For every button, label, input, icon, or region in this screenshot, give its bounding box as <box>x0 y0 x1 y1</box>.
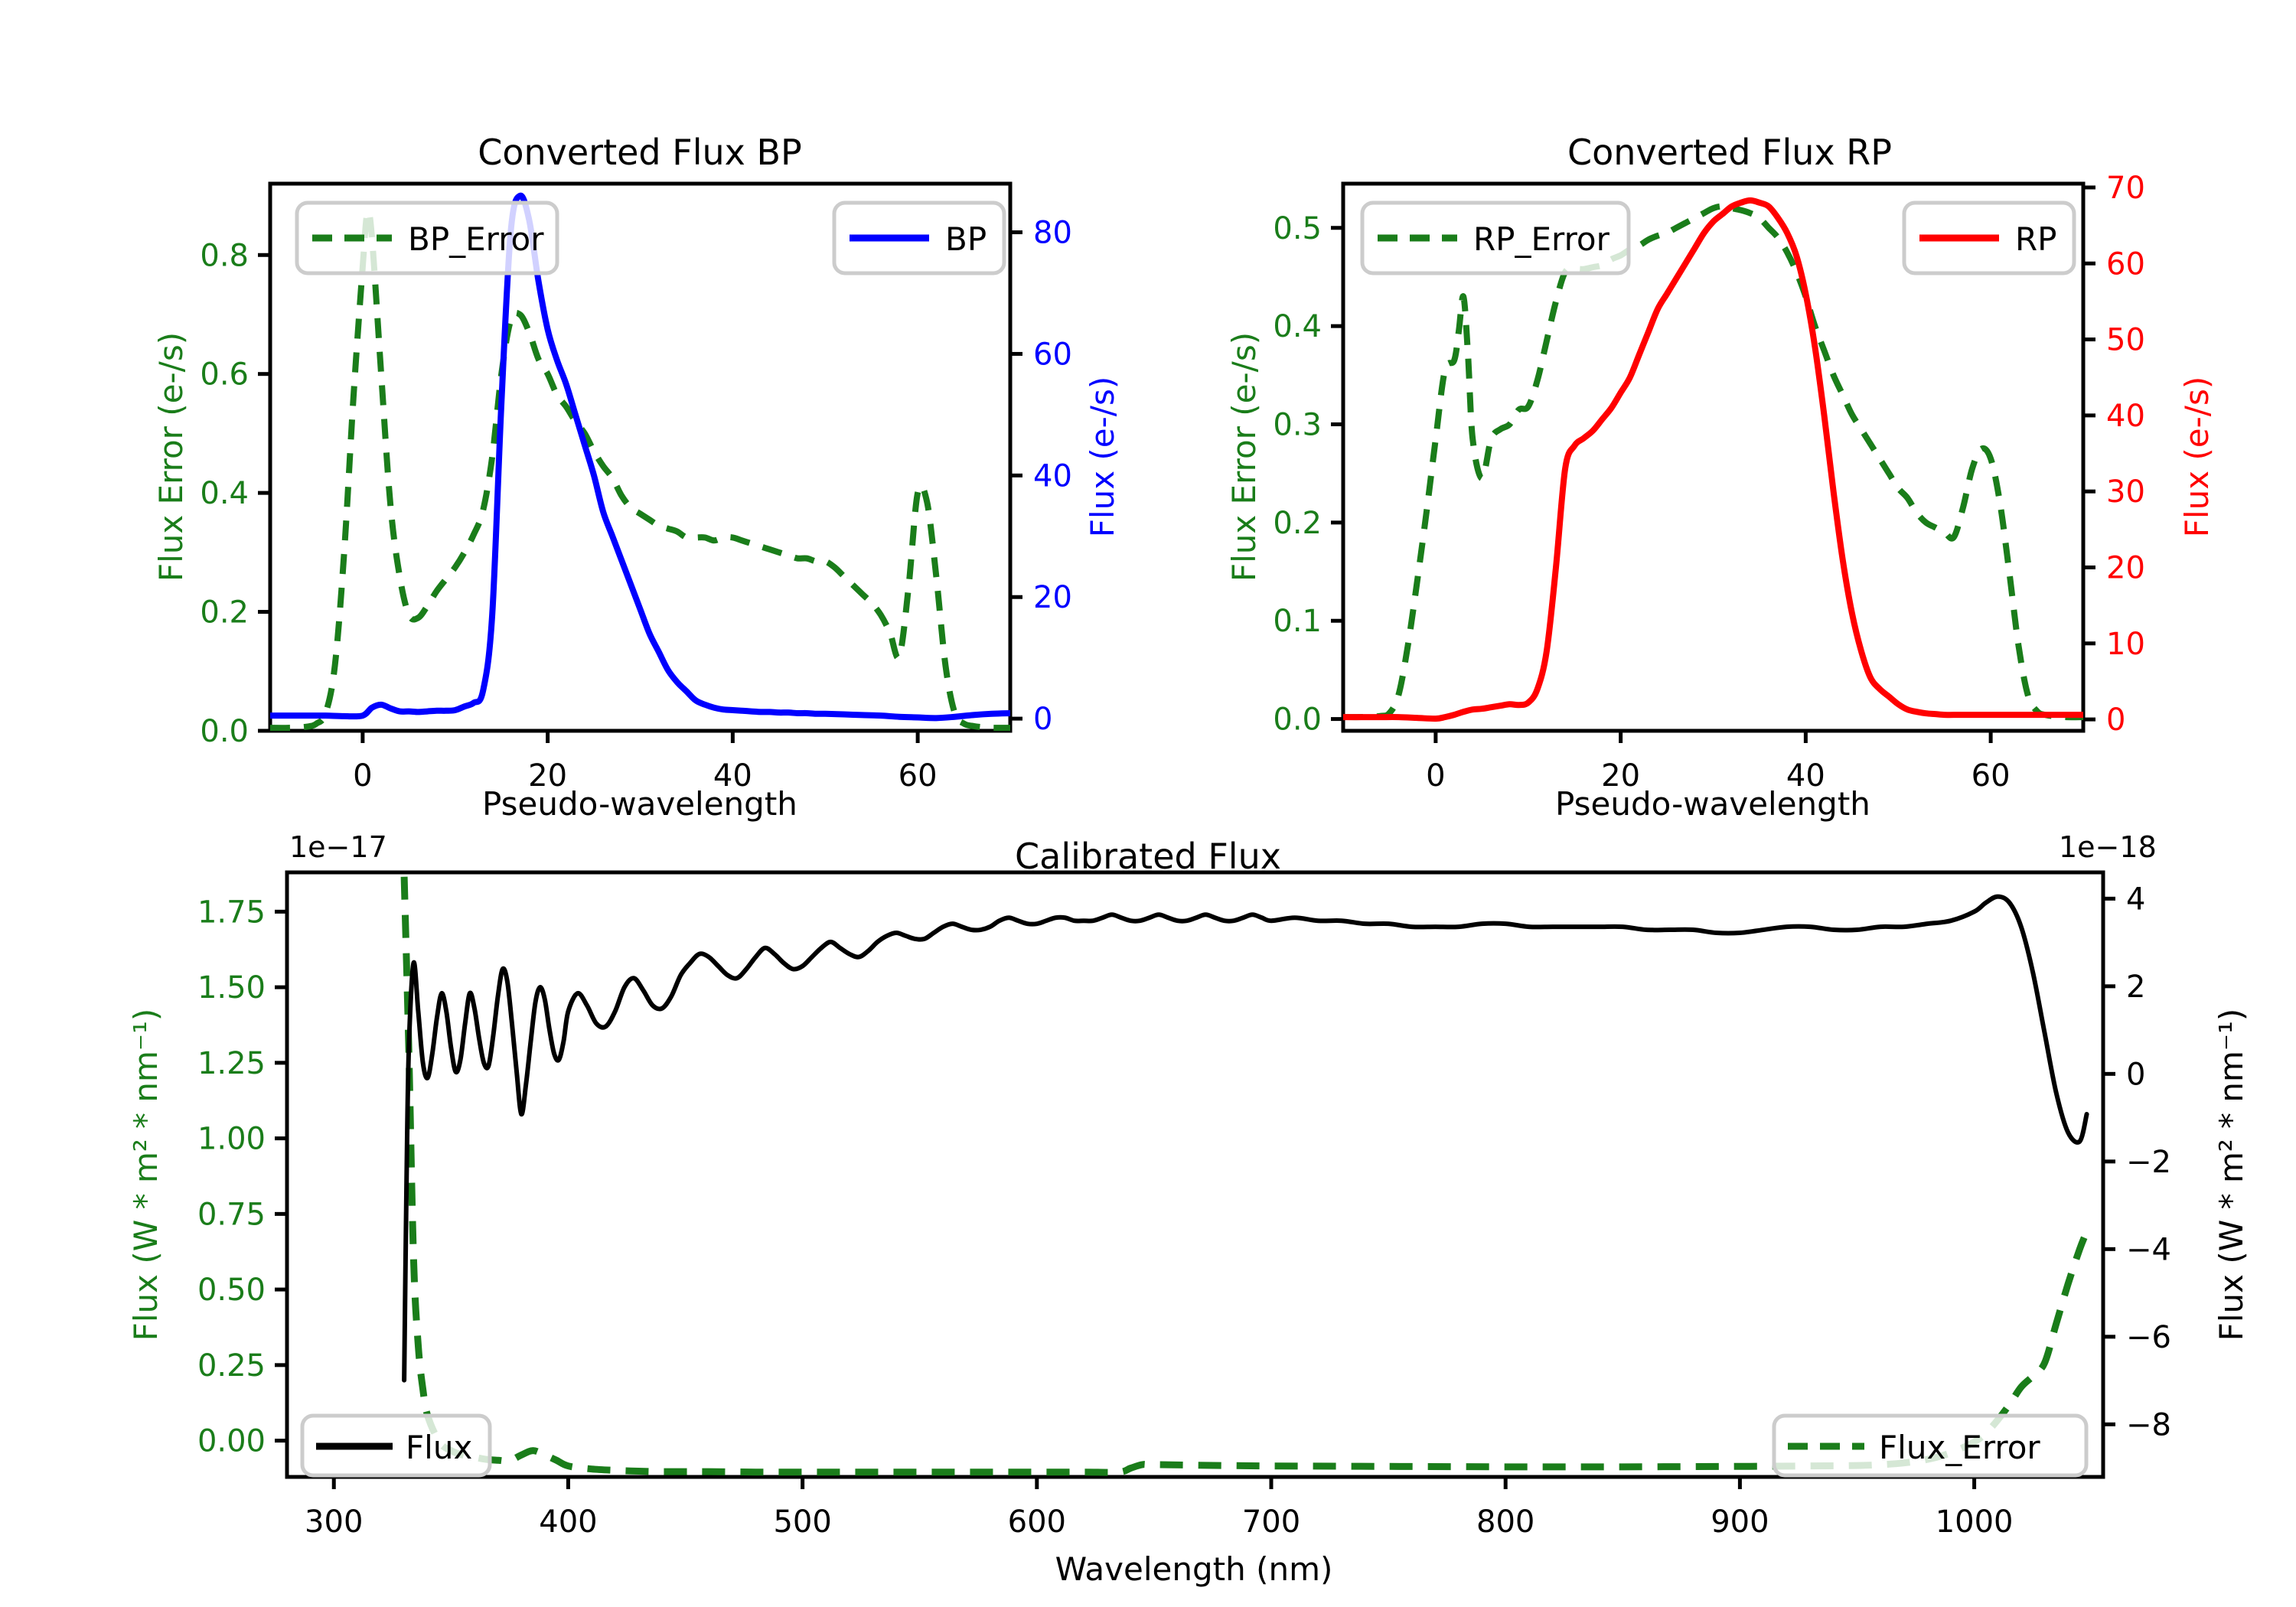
svg-text:−6: −6 <box>2126 1320 2171 1355</box>
cal-x-tick-group: 3004005006007008009001000 <box>305 1477 2013 1540</box>
svg-text:600: 600 <box>1008 1504 1066 1540</box>
rp-ylabel-left: Flux Error (e-/s) <box>1225 332 1263 582</box>
rp-right-tick-group: 010203040506070 <box>2083 171 2145 738</box>
svg-text:0: 0 <box>353 758 372 794</box>
svg-text:0.50: 0.50 <box>197 1273 266 1308</box>
cal-legend-flux-label: Flux <box>406 1429 472 1466</box>
svg-text:1.50: 1.50 <box>197 970 266 1006</box>
cal-ylabel-right: Flux (W * m² * nm⁻¹) <box>2213 1009 2250 1341</box>
cal-offset-left: 1e−17 <box>289 830 387 864</box>
svg-text:500: 500 <box>773 1504 831 1540</box>
svg-text:1000: 1000 <box>1936 1504 2014 1540</box>
cal-error-line <box>404 877 2086 1472</box>
cal-legend-flux[interactable]: Flux <box>302 1416 490 1475</box>
svg-text:800: 800 <box>1476 1504 1534 1540</box>
svg-text:−8: −8 <box>2126 1407 2171 1442</box>
bp-legend-error-label: BP_Error <box>408 220 544 258</box>
cal-legend-error[interactable]: Flux_Error <box>1774 1416 2086 1475</box>
rp-title: Converted Flux RP <box>1567 132 1892 173</box>
svg-text:30: 30 <box>2106 474 2145 510</box>
svg-text:0.00: 0.00 <box>197 1424 266 1459</box>
svg-text:−4: −4 <box>2126 1232 2171 1267</box>
cal-flux-line <box>404 897 2086 1380</box>
rp-ylabel-right: Flux (e-/s) <box>2178 376 2216 537</box>
svg-text:70: 70 <box>2106 171 2145 206</box>
rp-legend-flux[interactable]: RP <box>1904 203 2074 273</box>
panel-calibrated-flux: Calibrated Flux 1e−17 1e−18 0.000.250.50… <box>0 826 2296 1607</box>
svg-text:1.75: 1.75 <box>197 895 266 930</box>
svg-text:20: 20 <box>2106 550 2145 585</box>
rp-legend-error-label: RP_Error <box>1473 220 1610 258</box>
svg-text:0: 0 <box>2126 1057 2145 1092</box>
rp-error-line <box>1343 207 2083 718</box>
bp-left-tick-group: 0.00.20.40.60.8 <box>200 238 270 749</box>
bp-ylabel-left: Flux Error (e-/s) <box>152 332 190 582</box>
svg-text:0.1: 0.1 <box>1273 604 1322 639</box>
svg-text:60: 60 <box>1033 337 1072 372</box>
cal-right-tick-group: −8−6−4−2024 <box>2103 882 2171 1442</box>
svg-text:20: 20 <box>1033 580 1072 615</box>
svg-text:60: 60 <box>2106 246 2145 282</box>
svg-text:10: 10 <box>2106 627 2145 662</box>
svg-text:0.6: 0.6 <box>200 357 249 393</box>
svg-text:60: 60 <box>899 758 938 794</box>
rp-legend-flux-label: RP <box>2015 220 2057 258</box>
svg-text:0.3: 0.3 <box>1273 407 1322 442</box>
rp-xlabel: Pseudo-wavelength <box>1555 785 1870 823</box>
svg-text:0.2: 0.2 <box>1273 506 1322 541</box>
svg-text:0.2: 0.2 <box>200 595 249 631</box>
rp-legend-error[interactable]: RP_Error <box>1362 203 1629 273</box>
svg-text:0.0: 0.0 <box>1273 702 1322 738</box>
svg-text:0.8: 0.8 <box>200 238 249 273</box>
svg-text:80: 80 <box>1033 216 1072 251</box>
svg-text:40: 40 <box>2106 399 2145 434</box>
svg-text:4: 4 <box>2126 882 2145 917</box>
figure-canvas: Converted Flux BP 0.00.20.40.60.8 020406… <box>0 0 2296 1607</box>
cal-left-tick-group: 0.000.250.500.751.001.251.501.75 <box>197 895 287 1459</box>
svg-text:400: 400 <box>539 1504 597 1540</box>
svg-text:40: 40 <box>1033 458 1072 494</box>
bp-legend-flux[interactable]: BP <box>834 203 1004 273</box>
svg-text:0.4: 0.4 <box>1273 309 1322 344</box>
bp-right-tick-group: 020406080 <box>1010 216 1072 738</box>
svg-text:−2: −2 <box>2126 1145 2171 1180</box>
cal-ylabel-left: Flux (W * m² * nm⁻¹) <box>127 1009 165 1341</box>
bp-legend-flux-label: BP <box>945 220 987 258</box>
svg-text:700: 700 <box>1242 1504 1300 1540</box>
bp-error-line <box>270 211 1010 728</box>
bp-ylabel-right: Flux (e-/s) <box>1084 376 1121 537</box>
svg-text:0: 0 <box>2106 702 2125 738</box>
svg-text:1.25: 1.25 <box>197 1046 266 1081</box>
svg-text:900: 900 <box>1711 1504 1769 1540</box>
svg-text:50: 50 <box>2106 323 2145 358</box>
svg-text:0.75: 0.75 <box>197 1197 266 1232</box>
bp-x-tick-group: 0204060 <box>353 731 937 794</box>
svg-text:60: 60 <box>1971 758 2011 794</box>
panel-converted-flux-rp: Converted Flux RP 0.00.10.20.30.40.5 010… <box>1148 0 2296 826</box>
svg-text:0: 0 <box>1033 702 1052 737</box>
svg-text:0.25: 0.25 <box>197 1348 266 1384</box>
cal-offset-right: 1e−18 <box>2059 830 2157 864</box>
svg-text:300: 300 <box>305 1504 363 1540</box>
rp-x-tick-group: 0204060 <box>1426 731 2010 794</box>
bp-legend-error[interactable]: BP_Error <box>297 203 557 273</box>
cal-xlabel: Wavelength (nm) <box>1055 1550 1333 1588</box>
rp-left-tick-group: 0.00.10.20.30.40.5 <box>1273 211 1343 738</box>
svg-text:1.00: 1.00 <box>197 1122 266 1157</box>
svg-text:0: 0 <box>1426 758 1445 794</box>
bp-xlabel: Pseudo-wavelength <box>482 785 797 823</box>
svg-text:2: 2 <box>2126 970 2145 1005</box>
cal-legend-error-label: Flux_Error <box>1879 1429 2040 1466</box>
svg-text:0.4: 0.4 <box>200 476 249 511</box>
svg-text:0.0: 0.0 <box>200 714 249 749</box>
panel-converted-flux-bp: Converted Flux BP 0.00.20.40.60.8 020406… <box>0 0 1148 826</box>
bp-title: Converted Flux BP <box>478 132 802 173</box>
cal-axes-frame <box>287 872 2103 1477</box>
svg-text:0.5: 0.5 <box>1273 211 1322 246</box>
